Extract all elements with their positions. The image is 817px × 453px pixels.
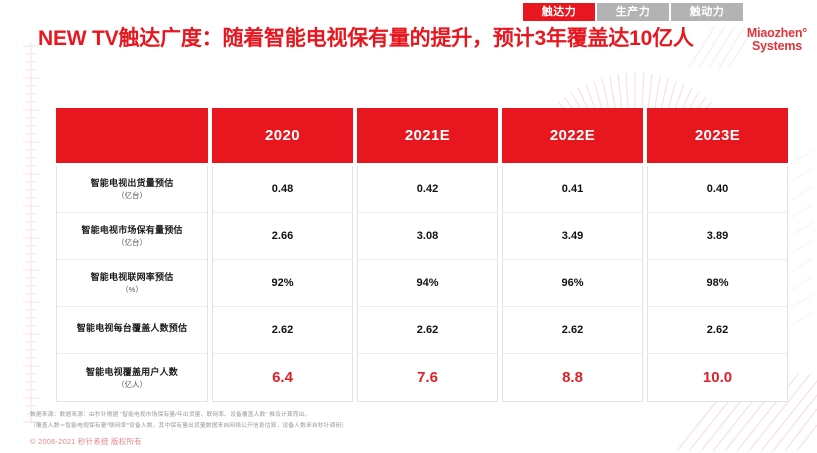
table-cell: 3.49: [503, 213, 642, 260]
cell-value-highlight: 8.8: [562, 369, 583, 386]
cell-value: 0.40: [707, 183, 728, 195]
table-header-2022e: 2022E: [502, 108, 643, 163]
tab-chudali[interactable]: 触达力: [523, 3, 595, 21]
logo-line-2: Systems: [745, 40, 809, 53]
table-header-2020: 2020: [212, 108, 353, 163]
table-row: 智能电视出货量预估 （亿台）: [57, 166, 207, 213]
footnote-block: 数据来源：数据来源：由秒针根据 “智能电视市场保有量/年出货量、联网率、设备覆盖…: [30, 410, 670, 447]
table-row: 智能电视每台覆盖人数预估: [57, 307, 207, 354]
tab-shengchanli[interactable]: 生产力: [597, 3, 669, 21]
table-cell: 7.6: [358, 354, 497, 401]
cell-value: 0.42: [417, 183, 438, 195]
row-unit: （%）: [121, 286, 143, 294]
cell-value: 92%: [271, 277, 293, 289]
row-unit: （亿台）: [117, 192, 147, 200]
cell-value: 2.62: [272, 324, 293, 336]
table-label-column: 智能电视出货量预估 （亿台） 智能电视市场保有量预估 （亿台） 智能电视联网率预…: [56, 166, 208, 402]
table-column-2020: 0.48 2.66 92% 2.62 6.4: [212, 166, 353, 402]
table-cell: 98%: [648, 260, 787, 307]
table-cell: 8.8: [503, 354, 642, 401]
ruler-watermark: [20, 42, 42, 424]
category-tab-strip: 触达力 生产力 触动力: [523, 3, 743, 21]
cell-value: 3.49: [562, 230, 583, 242]
cell-value-highlight: 10.0: [703, 369, 732, 386]
cell-value-highlight: 7.6: [417, 369, 438, 386]
slide-title: NEW TV触达广度：随着智能电视保有量的提升，预计3年覆盖达10亿人: [38, 22, 738, 52]
tab-chudongli[interactable]: 触动力: [671, 3, 743, 21]
copyright-text: © 2006-2021 秒针系统 版权所有: [30, 436, 670, 447]
cell-value: 98%: [706, 277, 728, 289]
cell-value: 0.41: [562, 183, 583, 195]
table-cell: 3.08: [358, 213, 497, 260]
cell-value: 94%: [416, 277, 438, 289]
table-cell: 6.4: [213, 354, 352, 401]
logo-line-1: Miaozhen°: [745, 27, 809, 40]
right-edge-watermark: [789, 150, 815, 330]
table-header-2023e: 2023E: [647, 108, 788, 163]
cell-value: 3.89: [707, 230, 728, 242]
footnote-line-2: （覆盖人数＝智能电视保有量*联网率*设备人数，其中保有量出货量数据来自网络公开信…: [30, 421, 670, 432]
table-column-2021e: 0.42 3.08 94% 2.62 7.6: [357, 166, 498, 402]
table-cell: 2.66: [213, 213, 352, 260]
table-cell: 2.62: [503, 307, 642, 354]
row-label: 智能电视出货量预估: [91, 178, 174, 189]
row-label: 智能电视覆盖用户人数: [86, 367, 178, 378]
table-cell: 92%: [213, 260, 352, 307]
table-column-2023e: 0.40 3.89 98% 2.62 10.0: [647, 166, 788, 402]
cell-value: 2.62: [562, 324, 583, 336]
footnote-line-1: 数据来源：数据来源：由秒针根据 “智能电视市场保有量/年出货量、联网率、设备覆盖…: [30, 410, 670, 421]
table-row: 智能电视联网率预估 （%）: [57, 260, 207, 307]
row-label: 智能电视市场保有量预估: [81, 225, 182, 236]
table-header-row: 2020 2021E 2022E 2023E: [56, 108, 786, 163]
table-cell: 3.89: [648, 213, 787, 260]
table-header-corner: [56, 108, 208, 163]
row-unit: （亿人）: [117, 381, 147, 389]
table-cell: 0.41: [503, 166, 642, 213]
table-cell: 10.0: [648, 354, 787, 401]
cell-value: 0.48: [272, 183, 293, 195]
miaozhen-logo: Miaozhen° Systems: [745, 27, 809, 53]
table-cell: 2.62: [358, 307, 497, 354]
cell-value: 96%: [561, 277, 583, 289]
table-column-2022e: 0.41 3.49 96% 2.62 8.8: [502, 166, 643, 402]
cell-value: 2.62: [707, 324, 728, 336]
forecast-table: 2020 2021E 2022E 2023E 智能电视出货量预估 （亿台） 智能…: [56, 108, 786, 402]
table-cell: 96%: [503, 260, 642, 307]
table-row: 智能电视覆盖用户人数 （亿人）: [57, 354, 207, 401]
table-cell: 94%: [358, 260, 497, 307]
row-unit: （亿台）: [117, 239, 147, 247]
row-label: 智能电视每台覆盖人数预估: [77, 323, 187, 334]
row-label: 智能电视联网率预估: [91, 272, 174, 283]
table-cell: 0.40: [648, 166, 787, 213]
cell-value: 2.62: [417, 324, 438, 336]
cell-value: 2.66: [272, 230, 293, 242]
table-cell: 2.62: [648, 307, 787, 354]
table-header-2021e: 2021E: [357, 108, 498, 163]
table-body: 智能电视出货量预估 （亿台） 智能电视市场保有量预估 （亿台） 智能电视联网率预…: [56, 166, 786, 402]
table-cell: 0.48: [213, 166, 352, 213]
table-cell: 2.62: [213, 307, 352, 354]
table-cell: 0.42: [358, 166, 497, 213]
cell-value-highlight: 6.4: [272, 369, 293, 386]
cell-value: 3.08: [417, 230, 438, 242]
table-row: 智能电视市场保有量预估 （亿台）: [57, 213, 207, 260]
slide-canvas: 触达力 生产力 触动力 Miaozhen° Systems NEW TV触达广度…: [0, 0, 817, 453]
